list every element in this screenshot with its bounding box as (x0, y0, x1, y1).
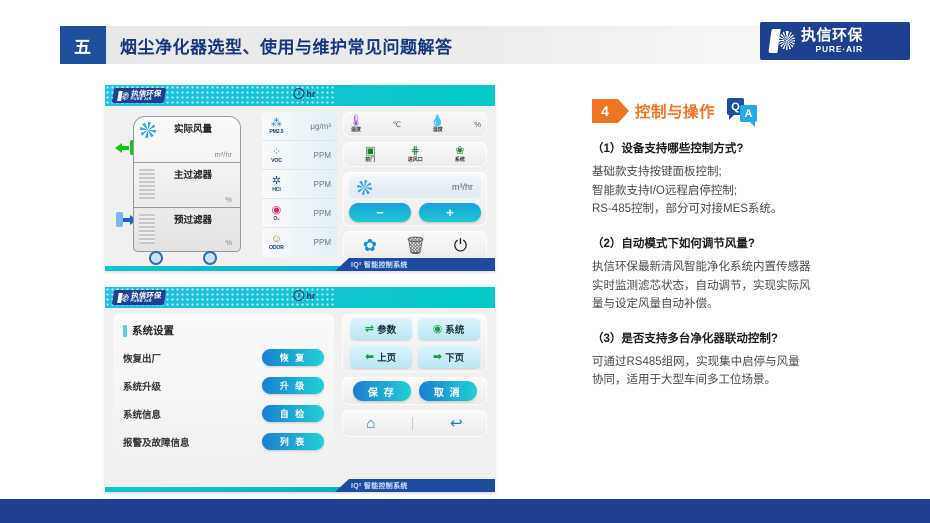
hcl-icon: ✲ HCI (265, 176, 287, 193)
air-inlet-status-icon[interactable]: ⋕ 进风口 (408, 146, 423, 163)
filter-grill-icon (139, 214, 155, 244)
a-bubble: A (740, 105, 757, 122)
ozone-icon: ◉ O₃ (265, 205, 287, 222)
section-number-badge: 五 (60, 26, 106, 64)
device-1-clock-unit: hr (306, 89, 315, 99)
device-2-runtime-clock: hr (293, 290, 315, 301)
faq-item-2: （2）自动模式下如何调节风量? 执信环保最新清风智能净化系统内置传感器 实时监测… (592, 235, 922, 314)
factory-reset-button[interactable]: 恢 复 (262, 349, 324, 366)
save-cancel-card: 保 存 取 消 (342, 377, 487, 405)
machine-segment-unit: m³/hr (215, 150, 233, 159)
device-1-runtime-clock: hr (293, 88, 315, 99)
sensor-unit: PPM (314, 151, 331, 160)
environment-card: 🌡 温度 ℃ 💧 湿度 % (343, 112, 487, 137)
faq-content-column: 4 控制与操作 Q A （1）设备支持哪些控制方式? 基础款支持按键面板控制; … (592, 98, 922, 406)
sensor-row-pm25[interactable]: ⁂ PM2.5 μg/m³ (262, 112, 337, 141)
sensor-row-o3[interactable]: ◉ O₃ PPM (262, 199, 337, 228)
sensor-unit: PPM (314, 238, 331, 247)
faq-answer-line: RS-485控制，部分可对接MES系统。 (592, 200, 922, 219)
page-footer-bar (0, 499, 930, 523)
faq-question: （1）设备支持哪些控制方式? (592, 140, 922, 156)
faq-item-1: （1）设备支持哪些控制方式? 基础款支持按键面板控制; 智能款支持I/O远程启停… (592, 140, 922, 219)
qa-bubble-icon: Q A (727, 98, 757, 123)
faq-item-3: （3）是否支持多台净化器联动控制? 可通过RS485组网，实现集中启停与风量 协… (592, 330, 922, 390)
setting-row-factory-reset: 恢复出厂 恢 复 (123, 349, 324, 366)
setting-row-system-info: 系统信息 自 检 (123, 405, 324, 422)
alarm-list-button[interactable]: 列 表 (262, 433, 324, 450)
sensor-readout-list: ⁂ PM2.5 μg/m³ ⁘ VOC PPM (262, 112, 337, 257)
nav-button-label: 系统 (445, 322, 464, 336)
sensor-row-odor[interactable]: ☺ ODOR PPM (262, 228, 337, 257)
odor-icon: ☺ ODOR (265, 234, 287, 251)
faq-question: （2）自动模式下如何调节风量? (592, 235, 922, 251)
device-1-header: 执信环保 PURE AIR hr (105, 85, 495, 106)
sliders-icon: ⇌ (365, 324, 374, 335)
faq-answer-line: 量与设定风量自动补偿。 (592, 295, 922, 314)
pm25-icon: ⁂ PM2.5 (265, 118, 287, 135)
section-heading-title: 控制与操作 (635, 100, 715, 122)
device-1-logo-en: PURE AIR (130, 97, 161, 101)
device-2-footer-tag: IQ² 智能控制系统 (335, 479, 495, 492)
fan-icon (140, 122, 156, 138)
machine-segment-main-filter[interactable]: 主过滤器 % (134, 163, 240, 208)
divider (412, 417, 413, 430)
cancel-button[interactable]: 取 消 (419, 381, 477, 401)
logo-fan-icon (766, 26, 796, 56)
settings-gear-icon[interactable]: ✿ (363, 237, 377, 254)
status-card: ▣ 前门 ⋕ 进风口 ❀ 系统 (343, 142, 487, 167)
machine-segment-pre-filter[interactable]: 预过滤器 % (134, 208, 240, 250)
section-heading: 4 控制与操作 Q A (592, 98, 922, 123)
machine-segment-label: 主过滤器 (142, 167, 232, 181)
logo-text-en: PURE·AIR (801, 45, 863, 54)
device-2-logo: 执信环保 PURE AIR (112, 290, 166, 305)
airflow-unit: m³/hr (452, 182, 473, 192)
home-back-card: ⌂ ↩ (342, 410, 487, 437)
faq-answer-line: 可通过RS485组网，实现集中启停与风量 (592, 353, 922, 372)
system-upgrade-button[interactable]: 升 级 (262, 377, 324, 394)
device-2-footer: IQ² 智能控制系统 (105, 479, 495, 492)
nav-button-label: 上页 (377, 350, 396, 364)
sensor-unit: PPM (314, 180, 331, 189)
home-icon[interactable]: ⌂ (366, 416, 375, 431)
machine-segment-airflow[interactable]: 实际风量 m³/hr (134, 117, 240, 163)
setting-label: 系统升级 (123, 379, 161, 393)
page-title: 烟尘净化器选型、使用与维护常见问题解答 (120, 26, 453, 64)
navigation-card: ⇌ 参数 ◉ 系统 ⬅ 上页 ➡ 下页 (342, 314, 487, 372)
machine-diagram: 实际风量 m³/hr 主过滤器 % 预过滤器 % (113, 112, 256, 257)
machine-segment-unit: % (225, 195, 232, 204)
device-screen-settings: 执信环保 PURE AIR hr 系统设置 恢复出厂 恢 复 系统升级 (105, 287, 495, 492)
next-page-button[interactable]: ➡ 下页 (418, 346, 480, 368)
voc-icon: ⁘ VOC (265, 147, 287, 164)
faq-answer-line: 执信环保最新清风智能净化系统内置传感器 (592, 258, 922, 277)
humidity-unit: % (474, 120, 481, 129)
faq-question: （3）是否支持多台净化器联动控制? (592, 330, 922, 346)
setting-label: 报警及故障信息 (123, 435, 190, 449)
setting-row-alarm-info: 报警及故障信息 列 表 (123, 433, 324, 450)
back-icon[interactable]: ↩ (450, 416, 463, 431)
filter-cleanup-icon[interactable]: 🗑 (405, 237, 427, 254)
device-1-footer: IQ² 智能控制系统 (105, 258, 495, 271)
sensor-unit: PPM (314, 209, 331, 218)
filter-grill-icon (139, 169, 155, 199)
arrow-left-icon: ⬅ (365, 352, 374, 363)
section-number-arrow-badge: 4 (592, 99, 618, 123)
system-settings-panel: 系统设置 恢复出厂 恢 复 系统升级 升 级 系统信息 自 检 报警及故障信息 … (113, 314, 334, 478)
system-button[interactable]: ◉ 系统 (418, 318, 480, 340)
setting-label: 恢复出厂 (123, 351, 161, 365)
device-2-header: 执信环保 PURE AIR hr (105, 287, 495, 308)
device-2-logo-en: PURE AIR (130, 299, 161, 303)
machine-segment-unit: % (225, 238, 232, 247)
fan-icon (357, 180, 372, 195)
action-card: ✿ 🗑 ⏻ (343, 231, 487, 260)
decrease-button[interactable]: − (349, 203, 411, 222)
power-icon[interactable]: ⏻ (454, 237, 467, 254)
setting-row-upgrade: 系统升级 升 级 (123, 377, 324, 394)
previous-page-button[interactable]: ⬅ 上页 (350, 346, 412, 368)
airflow-value-field[interactable]: m³/hr (349, 176, 481, 198)
faq-answer-line: 基础款支持按键面板控制; (592, 163, 922, 182)
sensor-row-hcl[interactable]: ✲ HCI PPM (262, 170, 337, 199)
faq-answer-line: 智能款支持I/O远程启停控制; (592, 182, 922, 201)
device-1-footer-tag: IQ² 智能控制系统 (335, 258, 495, 271)
setting-label: 系统信息 (123, 407, 161, 421)
nav-button-label: 下页 (445, 350, 464, 364)
water-drop-icon: 💧 湿度 (431, 116, 445, 133)
device-2-clock-unit: hr (306, 291, 315, 301)
self-check-button[interactable]: 自 检 (262, 405, 324, 422)
machine-segment-label: 预过滤器 (142, 212, 232, 226)
parameters-button[interactable]: ⇌ 参数 (350, 318, 412, 340)
increase-button[interactable]: + (419, 203, 481, 222)
device-1-logo: 执信环保 PURE AIR (112, 88, 166, 103)
humidity-readout[interactable]: 💧 湿度 (431, 116, 445, 133)
faq-answer-line: 实时监测滤芯状态，自动调节，实现实际风 (592, 277, 922, 296)
arrow-right-icon: ➡ (433, 352, 442, 363)
system-status-icon[interactable]: ❀ 系统 (455, 146, 465, 163)
temperature-readout[interactable]: 🌡 温度 (349, 116, 363, 133)
front-door-status-icon[interactable]: ▣ 前门 (365, 146, 375, 163)
device-screen-monitor: 执信环保 PURE AIR hr 实际风量 (105, 85, 495, 271)
logo-text-cn: 执信环保 (801, 28, 863, 43)
temperature-unit: ℃ (393, 120, 401, 129)
settings-panel-title: 系统设置 (123, 323, 324, 338)
sensor-row-voc[interactable]: ⁘ VOC PPM (262, 141, 337, 170)
save-button[interactable]: 保 存 (353, 381, 411, 401)
nav-button-label: 参数 (377, 322, 396, 336)
sensor-unit: μg/m³ (310, 122, 331, 131)
clock-icon (293, 88, 304, 99)
system-gear-icon: ◉ (433, 324, 443, 335)
faq-answer-line: 协同，适用于大型车间多工位场景。 (592, 371, 922, 390)
company-logo: 执信环保 PURE·AIR (760, 22, 910, 60)
clock-icon (293, 290, 304, 301)
airflow-control-card: m³/hr − + (343, 172, 487, 226)
thermometer-icon: 🌡 温度 (349, 116, 363, 133)
